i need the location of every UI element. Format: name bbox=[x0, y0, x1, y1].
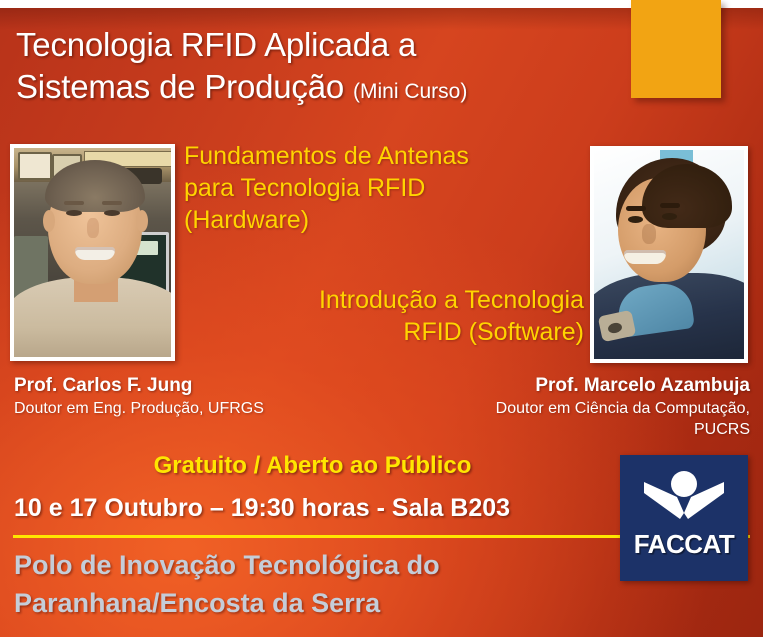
photo-left-eye-left bbox=[66, 210, 82, 216]
title-line-2-main: Sistemas de Produção bbox=[16, 68, 344, 105]
presenter-right-role-line-2: PUCRS bbox=[390, 419, 750, 440]
course-hardware-line-1: Fundamentos de Antenas bbox=[184, 140, 584, 172]
presenter-block-right: Prof. Marcelo Azambuja Doutor em Ciência… bbox=[390, 374, 750, 440]
title-line-1: Tecnologia RFID Aplicada a bbox=[16, 24, 636, 66]
faccat-logo-text: FACCAT bbox=[620, 529, 748, 560]
photo-left-smile bbox=[75, 247, 115, 260]
course-hardware-line-2: para Tecnologia RFID bbox=[184, 172, 584, 204]
course-title-hardware: Fundamentos de Antenas para Tecnologia R… bbox=[184, 140, 584, 236]
photo-left-eye-right bbox=[104, 210, 120, 216]
photo-left-ear-left bbox=[43, 210, 55, 232]
organization-name: Polo de Inovação Tecnológica do Paranhan… bbox=[14, 546, 614, 622]
course-software-line-1: Introdução a Tecnologia bbox=[184, 284, 584, 316]
organization-line-2: Paranhana/Encosta da Serra bbox=[14, 584, 614, 622]
photo-right-eye-right bbox=[662, 213, 677, 220]
photo-right-brow-left bbox=[626, 206, 646, 211]
presenter-photo-right bbox=[590, 146, 748, 363]
photo-left-nose bbox=[87, 218, 99, 238]
title-suffix: (Mini Curso) bbox=[353, 80, 467, 103]
photo-left-equipment-1 bbox=[18, 152, 52, 180]
photo-left-brow-left bbox=[64, 201, 84, 205]
presenter-photo-left-image bbox=[14, 148, 171, 357]
photo-right-nose bbox=[642, 224, 656, 244]
presenter-photo-left bbox=[10, 144, 175, 361]
presenter-left-name: Prof. Carlos F. Jung bbox=[14, 374, 344, 398]
photo-left-brow-right bbox=[102, 201, 122, 205]
photo-right-smile bbox=[624, 250, 666, 264]
faccat-logo: FACCAT bbox=[620, 455, 748, 581]
organization-line-1: Polo de Inovação Tecnológica do bbox=[14, 546, 614, 584]
orange-accent-block bbox=[631, 0, 721, 98]
poster-title: Tecnologia RFID Aplicada a Sistemas de P… bbox=[16, 24, 636, 113]
presenter-right-role-line-1: Doutor em Ciência da Computação, bbox=[390, 398, 750, 419]
photo-right-brow-right bbox=[660, 203, 680, 208]
faccat-emblem-icon bbox=[620, 469, 748, 525]
presenter-block-left: Prof. Carlos F. Jung Doutor em Eng. Prod… bbox=[14, 374, 344, 419]
course-hardware-line-3: (Hardware) bbox=[184, 204, 584, 236]
presenter-photo-right-image bbox=[594, 150, 744, 359]
photo-right-eye-left bbox=[628, 216, 643, 223]
course-title-software: Introdução a Tecnologia RFID (Software) bbox=[184, 284, 584, 348]
course-software-line-2: RFID (Software) bbox=[184, 316, 584, 348]
presenter-right-name: Prof. Marcelo Azambuja bbox=[390, 374, 750, 398]
free-admission-text: Gratuito / Aberto ao Público bbox=[0, 452, 625, 480]
presenter-left-role-line-1: Doutor em Eng. Produção, UFRGS bbox=[14, 398, 344, 419]
title-line-2: Sistemas de Produção (Mini Curso) bbox=[16, 66, 636, 113]
poster-canvas: Tecnologia RFID Aplicada a Sistemas de P… bbox=[0, 0, 763, 637]
schedule-text: 10 e 17 Outubro – 19:30 horas - Sala B20… bbox=[14, 494, 622, 523]
photo-left-ear-right bbox=[136, 210, 148, 232]
